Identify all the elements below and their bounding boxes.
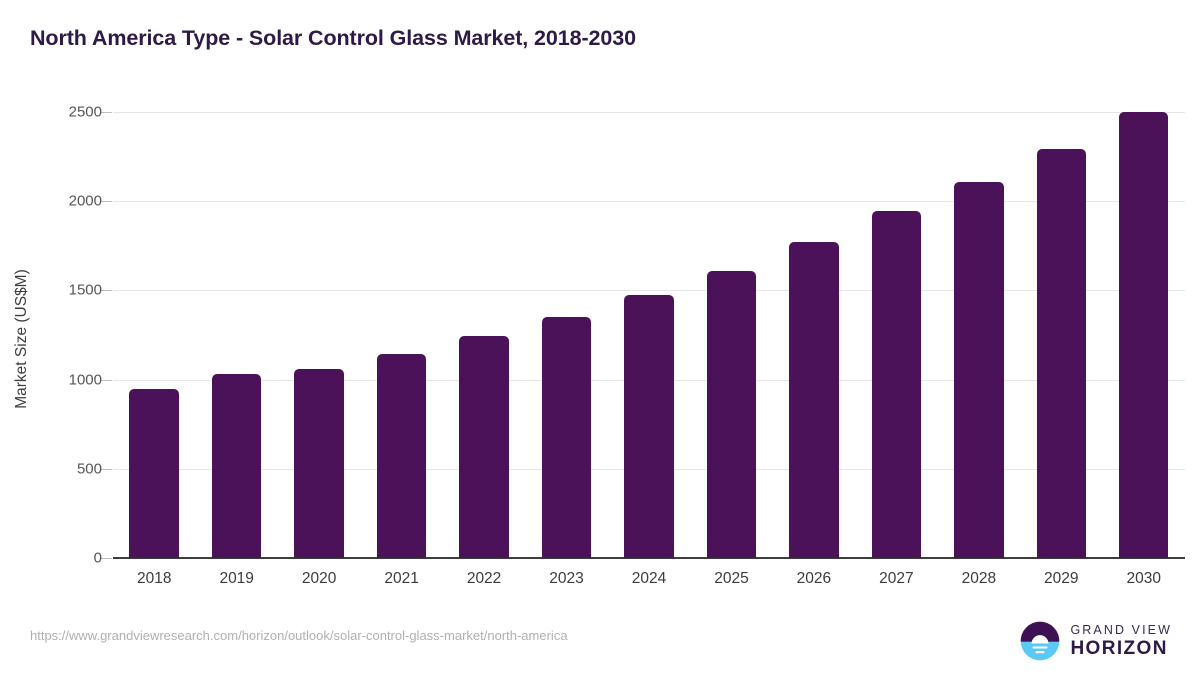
bar-2024[interactable]	[624, 295, 673, 558]
x-tick-label-2023: 2023	[549, 570, 583, 588]
y-tick-mark	[101, 201, 112, 202]
logo-line-1: GRAND VIEW	[1070, 624, 1172, 637]
logo-line-2: HORIZON	[1070, 639, 1172, 658]
bar-2028[interactable]	[954, 182, 1003, 558]
logo-wordmark: GRAND VIEW HORIZON	[1070, 624, 1172, 659]
bars-group	[113, 0, 1185, 558]
x-tick-label-2028: 2028	[962, 570, 996, 588]
y-tick-mark	[101, 112, 112, 113]
y-tick-mark	[101, 558, 112, 559]
source-url[interactable]: https://www.grandviewresearch.com/horizo…	[30, 628, 568, 643]
y-tick-label: 1500	[12, 282, 102, 299]
bar-2029[interactable]	[1037, 149, 1086, 558]
x-tick-label-2025: 2025	[714, 570, 748, 588]
x-tick-label-2021: 2021	[384, 570, 418, 588]
x-tick-label-2029: 2029	[1044, 570, 1078, 588]
y-tick-mark	[101, 469, 112, 470]
brand-logo[interactable]: GRAND VIEW HORIZON	[1019, 620, 1172, 662]
x-tick-label-2022: 2022	[467, 570, 501, 588]
x-tick-label-2026: 2026	[797, 570, 831, 588]
bar-2020[interactable]	[294, 369, 343, 558]
y-tick-label: 2000	[12, 193, 102, 210]
horizon-circle-icon	[1019, 620, 1061, 662]
x-tick-label-2018: 2018	[137, 570, 171, 588]
x-tick-label-2027: 2027	[879, 570, 913, 588]
bar-2019[interactable]	[212, 374, 261, 558]
x-tick-label-2024: 2024	[632, 570, 666, 588]
chart-card: North America Type - Solar Control Glass…	[0, 0, 1200, 675]
chart-plot-area: Market Size (US$M) 05001000150020002500 …	[0, 0, 1200, 675]
y-tick-mark	[101, 290, 112, 291]
bar-2021[interactable]	[377, 354, 426, 558]
bar-2022[interactable]	[459, 336, 508, 558]
y-tick-label: 0	[12, 550, 102, 567]
bar-2027[interactable]	[872, 211, 921, 558]
bar-2023[interactable]	[542, 317, 591, 558]
bar-2025[interactable]	[707, 271, 756, 558]
bar-2018[interactable]	[129, 389, 178, 558]
y-tick-mark	[101, 380, 112, 381]
bar-2026[interactable]	[789, 242, 838, 558]
bar-2030[interactable]	[1119, 112, 1168, 558]
y-tick-label: 2500	[12, 104, 102, 121]
y-tick-label: 1000	[12, 371, 102, 388]
x-tick-label-2030: 2030	[1127, 570, 1161, 588]
x-tick-label-2019: 2019	[219, 570, 253, 588]
y-tick-label: 500	[12, 460, 102, 477]
x-tick-label-2020: 2020	[302, 570, 336, 588]
